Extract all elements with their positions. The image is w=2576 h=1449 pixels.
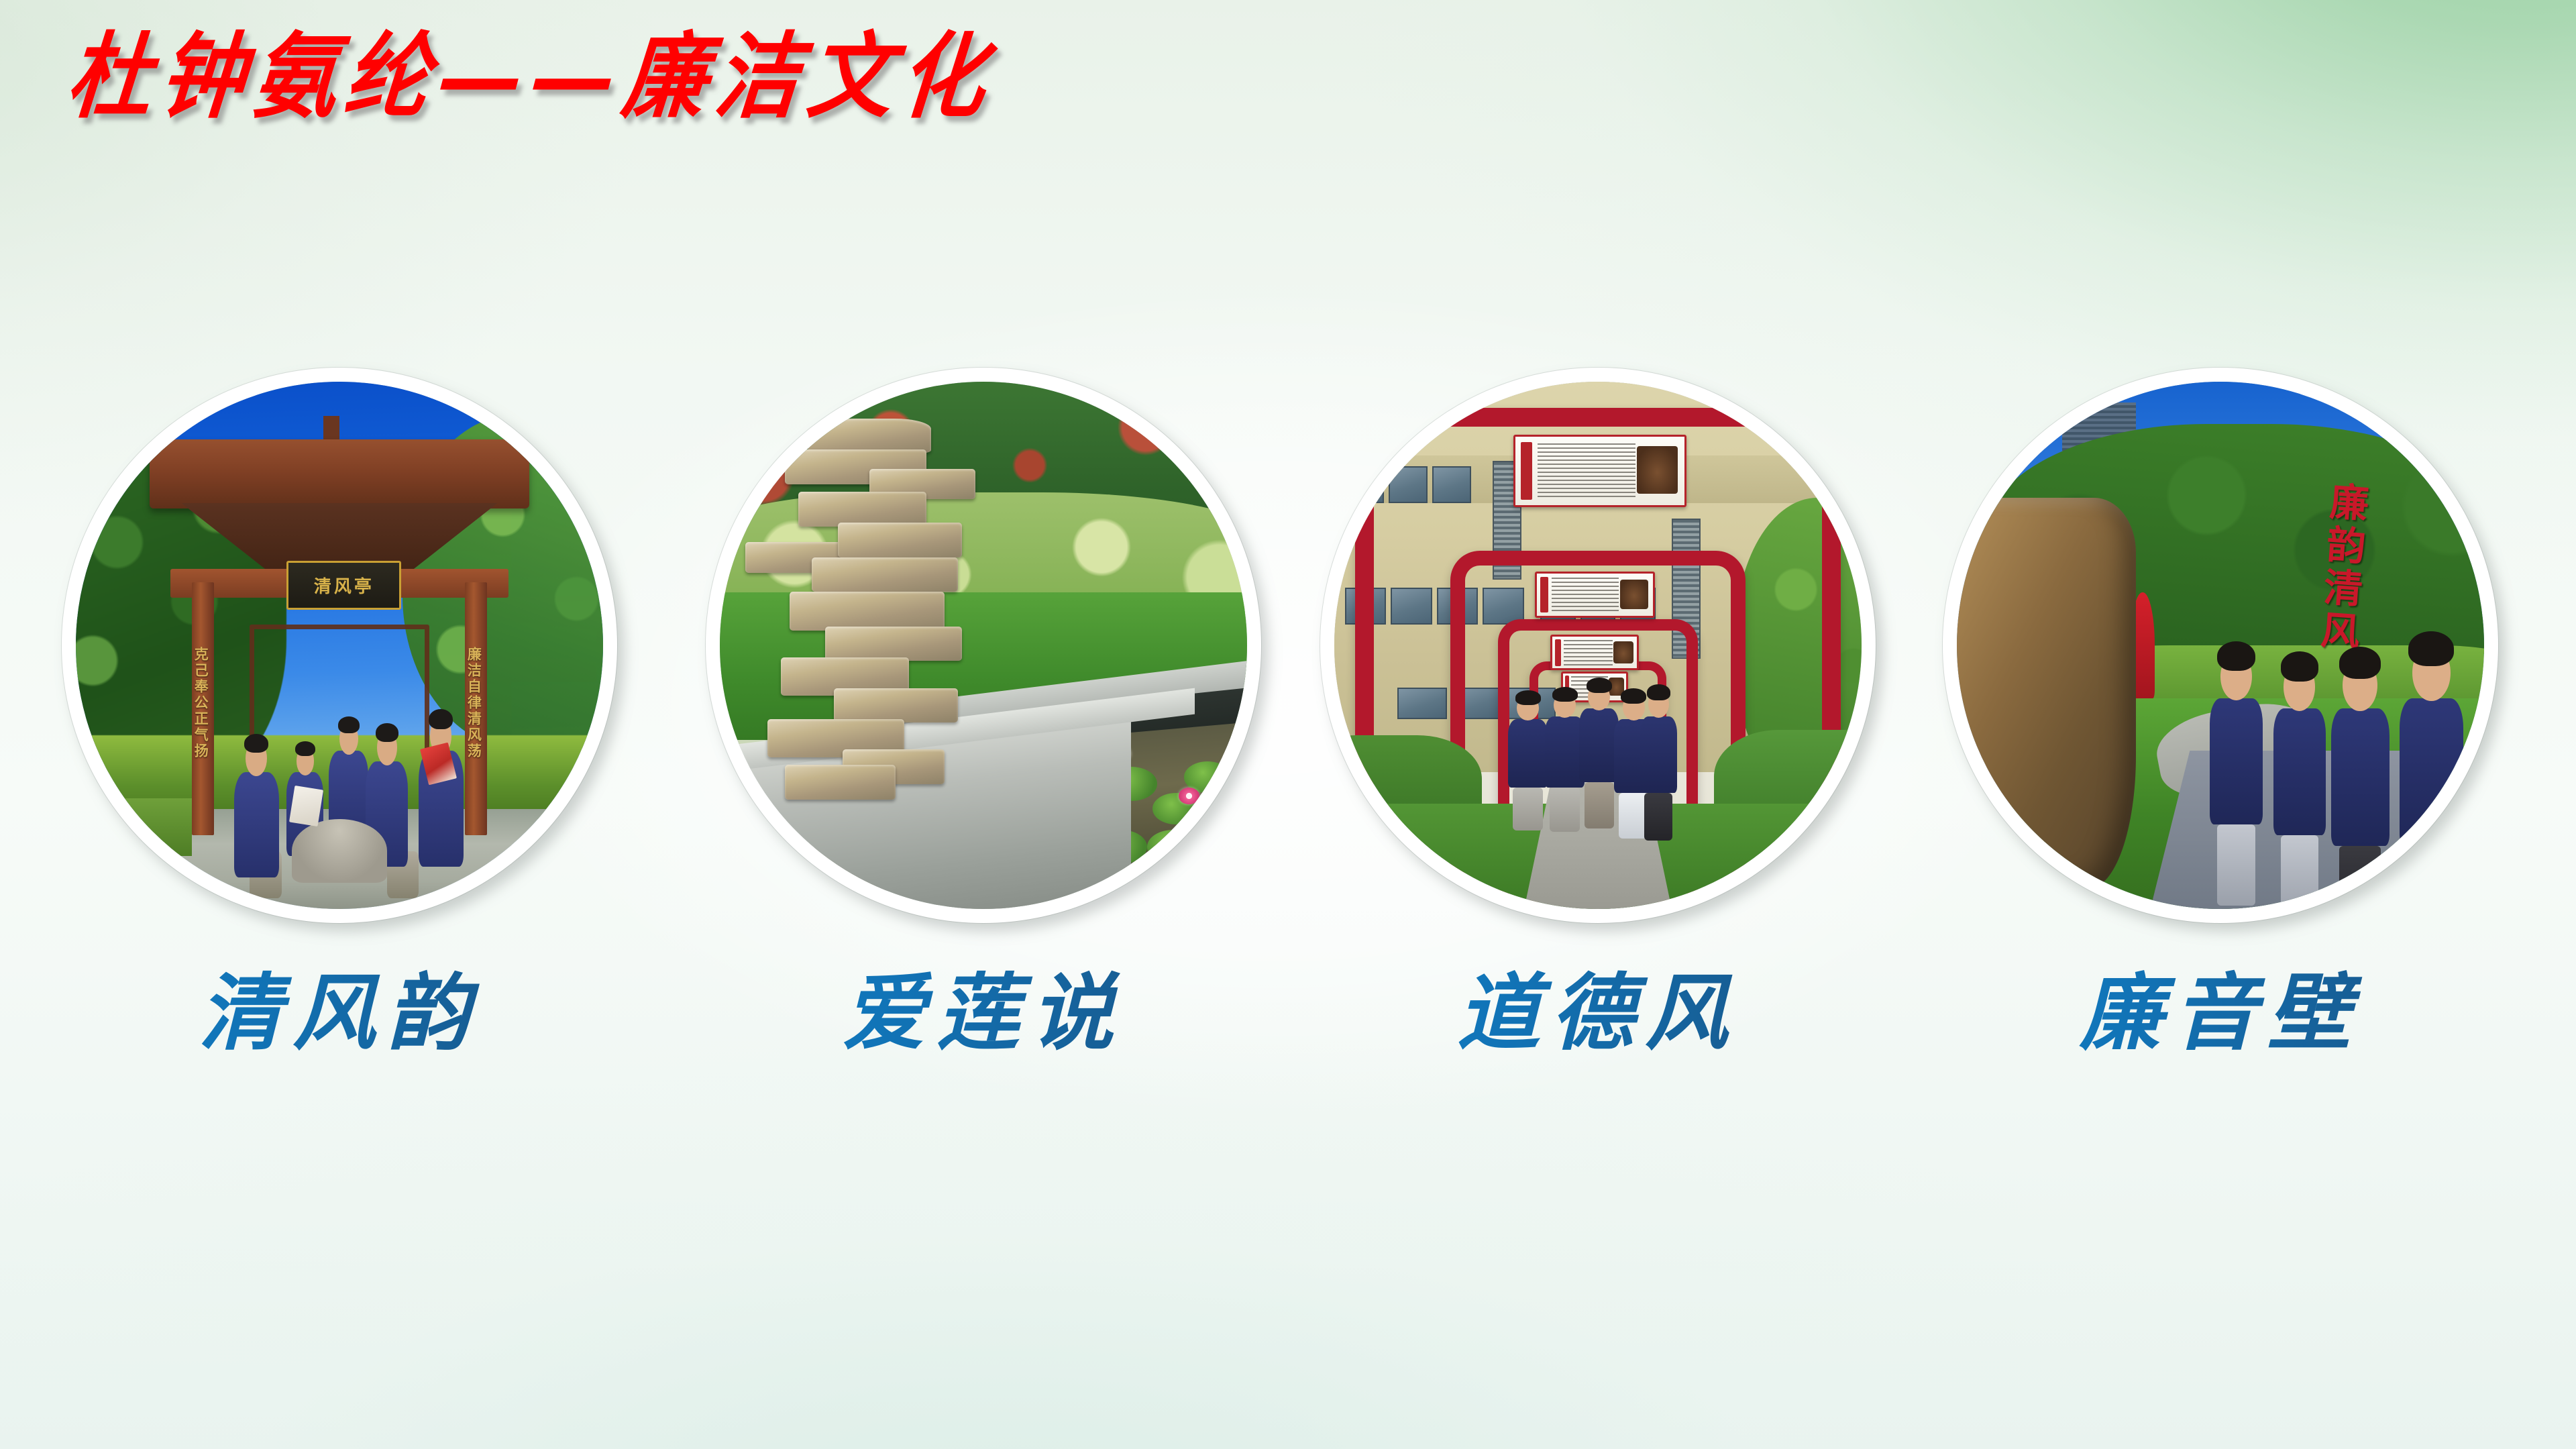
pavilion-couplet-left: 克己奉公正气扬 (195, 598, 211, 808)
photo-clip-1: 清风亭 克己奉公正气扬 廉洁自律清风荡 (76, 382, 603, 909)
photo-clip-2 (720, 382, 1247, 909)
gallery-item-3[interactable] (1320, 368, 1876, 923)
rockery (767, 419, 989, 804)
photo-red-arch-corridor (1334, 382, 1862, 909)
culture-board-2 (1535, 572, 1655, 618)
slide-title: 杜钟氨纶——廉洁文化 (62, 19, 998, 135)
pavilion-plaque: 清风亭 (286, 561, 401, 610)
culture-board-1 (1513, 435, 1686, 507)
gallery-item-1[interactable]: 清风亭 克己奉公正气扬 廉洁自律清风荡 (62, 368, 617, 923)
boulder (1957, 498, 2136, 888)
gallery-item-4[interactable]: 廉韵清风 (1943, 368, 2498, 923)
photo-gallery: 清风亭 克己奉公正气扬 廉洁自律清风荡 (0, 368, 2576, 928)
caption-qingfengyun: 清风韵 (62, 961, 617, 1067)
slide-root: 杜钟氨纶——廉洁文化 清风亭 (0, 0, 2576, 1449)
caption-ailianshuo: 爱莲说 (706, 961, 1261, 1067)
photo-engraved-boulder: 廉韵清风 (1957, 382, 2484, 909)
gallery-item-2[interactable] (706, 368, 1261, 923)
photo-clip-4: 廉韵清风 (1957, 382, 2484, 909)
pavilion-couplet-right: 廉洁自律清风荡 (468, 598, 484, 808)
caption-lianyinbi: 廉音壁 (1943, 961, 2498, 1067)
photo-pavilion: 清风亭 克己奉公正气扬 廉洁自律清风荡 (76, 382, 603, 909)
culture-board-3 (1550, 635, 1639, 670)
photo-lotus-pond (720, 382, 1247, 909)
photo-clip-3 (1334, 382, 1862, 909)
caption-daodefeng: 道德风 (1320, 961, 1876, 1067)
caption-row: 清风韵 爱莲说 道德风 廉音壁 (0, 961, 2576, 1095)
